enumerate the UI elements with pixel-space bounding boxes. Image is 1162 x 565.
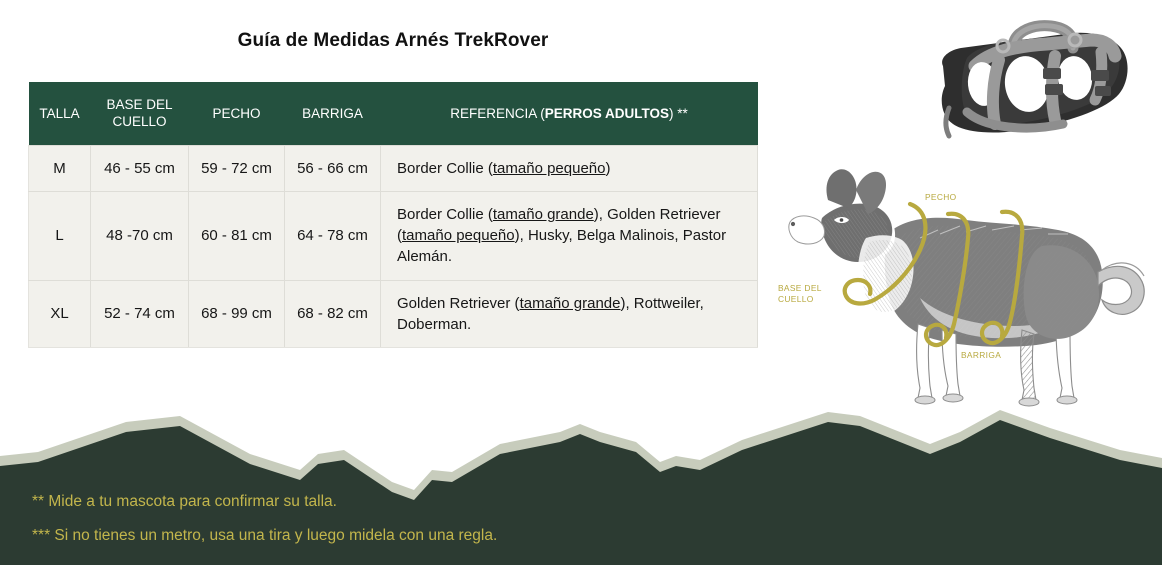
breed-size-note: tamaño pequeño — [402, 227, 515, 244]
table-header: TALLA BASE DEL CUELLO PECHO BARRIGA REFE… — [29, 82, 758, 145]
cell-base-cuello: 48 -70 cm — [91, 191, 189, 280]
table-row: M46 - 55 cm59 - 72 cm56 - 66 cmBorder Co… — [29, 145, 758, 191]
cell-barriga: 64 - 78 cm — [285, 191, 381, 280]
breed-text: Border Collie ( — [397, 206, 493, 223]
cell-base-cuello: 52 - 74 cm — [91, 280, 189, 348]
cell-talla: L — [29, 191, 91, 280]
cell-talla: XL — [29, 280, 91, 348]
breed-text: Golden Retriever ( — [397, 295, 520, 312]
dog-sketch — [789, 169, 1144, 406]
breed-size-note: tamaño pequeño — [493, 160, 606, 177]
referencia-suffix: ) ** — [669, 106, 688, 121]
table-header-row: TALLA BASE DEL CUELLO PECHO BARRIGA REFE… — [29, 82, 758, 145]
column-header-base-del-cuello-line2: CUELLO — [112, 114, 166, 129]
column-header-pecho: PECHO — [189, 82, 285, 145]
column-header-referencia: REFERENCIA (PERROS ADULTOS) ** — [381, 82, 758, 145]
diagram-label-base-del-cuello-line1: BASE DEL — [778, 283, 822, 293]
breed-text: ) — [605, 160, 610, 177]
cell-barriga: 68 - 82 cm — [285, 280, 381, 348]
diagram-label-barriga: BARRIGA — [961, 350, 1001, 360]
table-body: M46 - 55 cm59 - 72 cm56 - 66 cmBorder Co… — [29, 145, 758, 348]
referencia-bold: PERROS ADULTOS — [545, 106, 669, 121]
column-header-base-del-cuello: BASE DEL CUELLO — [91, 82, 189, 145]
cell-referencia: Golden Retriever (tamaño grande), Rottwe… — [381, 280, 758, 348]
column-header-base-del-cuello-line1: BASE DEL — [106, 97, 172, 112]
referencia-prefix: REFERENCIA ( — [450, 106, 545, 121]
diagram-label-pecho: PECHO — [925, 192, 957, 202]
column-header-barriga: BARRIGA — [285, 82, 381, 145]
size-guide-table: TALLA BASE DEL CUELLO PECHO BARRIGA REFE… — [28, 82, 758, 348]
breed-size-note: tamaño grande — [520, 295, 621, 312]
column-header-talla: TALLA — [29, 82, 91, 145]
harness-product-image — [915, 8, 1155, 158]
cell-base-cuello: 46 - 55 cm — [91, 145, 189, 191]
cell-barriga: 56 - 66 cm — [285, 145, 381, 191]
cell-referencia: Border Collie (tamaño grande), Golden Re… — [381, 191, 758, 280]
footnote-1: ** Mide a tu mascota para confirmar su t… — [32, 494, 932, 510]
diagram-label-base-del-cuello-line2: CUELLO — [778, 294, 814, 304]
breed-text: Border Collie ( — [397, 160, 493, 177]
cell-pecho: 60 - 81 cm — [189, 191, 285, 280]
harness-illustration — [942, 26, 1128, 136]
table-row: L48 -70 cm60 - 81 cm64 - 78 cmBorder Col… — [29, 191, 758, 280]
cell-pecho: 68 - 99 cm — [189, 280, 285, 348]
cell-talla: M — [29, 145, 91, 191]
breed-size-note: tamaño grande — [493, 206, 594, 223]
cell-referencia: Border Collie (tamaño pequeño) — [381, 145, 758, 191]
table-row: XL52 - 74 cm68 - 99 cm68 - 82 cmGolden R… — [29, 280, 758, 348]
cell-pecho: 59 - 72 cm — [189, 145, 285, 191]
footnote-2: *** Si no tienes un metro, usa una tira … — [32, 528, 932, 544]
footnotes: ** Mide a tu mascota para confirmar su t… — [32, 494, 932, 543]
dog-measurement-diagram: BASE DEL CUELLO PECHO BARRIGA — [770, 158, 1162, 416]
page-title: Guía de Medidas Arnés TrekRover — [28, 30, 758, 52]
